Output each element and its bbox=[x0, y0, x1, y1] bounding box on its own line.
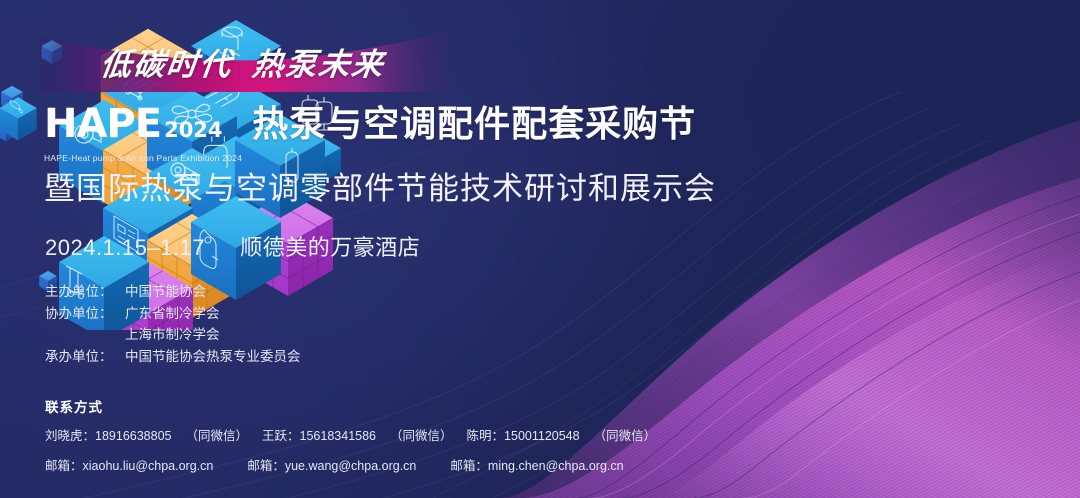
contact-phone-2: 15618341586 bbox=[300, 429, 376, 443]
organizer-name: 中国节能协会 bbox=[125, 281, 206, 303]
organizer-row: 承办单位： 中国节能协会热泵专业委员会 bbox=[45, 346, 301, 368]
contact-wechat-2: （同微信） bbox=[390, 425, 453, 444]
ribbon-slogan: 低碳时代 热泵未来 bbox=[29, 28, 457, 94]
email-label-3: 邮箱： bbox=[450, 455, 488, 474]
organizer-row: 主办单位： 中国节能协会 bbox=[45, 281, 301, 303]
organizer-role: 承办单位： bbox=[45, 346, 125, 368]
organizer-list: 主办单位： 中国节能协会 协办单位： 广东省制冷学会 主办单位： 上海市制冷学会… bbox=[45, 281, 301, 367]
organizer-name: 上海市制冷学会 bbox=[125, 324, 220, 346]
organizer-row: 主办单位： 上海市制冷学会 bbox=[45, 324, 301, 346]
contact-wechat-1: （同微信） bbox=[186, 425, 249, 444]
email-label-2: 邮箱： bbox=[247, 455, 285, 474]
organizer-name: 中国节能协会热泵专业委员会 bbox=[125, 346, 301, 368]
contact-name-3: 陈明： bbox=[467, 425, 505, 444]
event-venue: 顺德美的万豪酒店 bbox=[240, 235, 420, 260]
contact-heading: 联系方式 bbox=[45, 396, 103, 416]
contact-name-1: 刘晓虎： bbox=[45, 425, 95, 444]
date-venue: 2024.1.15–1.17 顺德美的万豪酒店 bbox=[45, 230, 420, 262]
cube-detached-left bbox=[0, 97, 37, 140]
contact-phones-row: 刘晓虎：18916638805（同微信）王跃：15618341586（同微信）陈… bbox=[45, 425, 656, 444]
contact-phone-1: 18916638805 bbox=[95, 429, 171, 443]
contact-wechat-3: （同微信） bbox=[594, 425, 657, 444]
hape-subtitle-en: HAPE-Heat pump & Air con Parts Exhibitio… bbox=[44, 153, 242, 163]
contact-emails-row: 邮箱：xiaohu.liu@chpa.org.cn邮箱：yue.wang@chp… bbox=[45, 455, 624, 474]
organizer-role: 主办单位： bbox=[45, 281, 125, 303]
contact-name-2: 王跃： bbox=[262, 425, 300, 444]
calligraphy-ribbon: 低碳时代 热泵未来 bbox=[33, 28, 453, 94]
organizer-role: 协办单位： bbox=[45, 303, 125, 325]
page-title: 热泵与空调配件配套采购节 bbox=[252, 104, 696, 144]
email-label-1: 邮箱： bbox=[45, 455, 83, 474]
title-block: HAPE 2024 HAPE-Heat pump & Air con Parts… bbox=[44, 104, 696, 163]
contact-email-1[interactable]: xiaohu.liu@chpa.org.cn bbox=[83, 459, 214, 473]
ribbon-slogan-part1: 低碳时代 bbox=[98, 39, 236, 84]
organizer-name: 广东省制冷学会 bbox=[125, 303, 220, 325]
event-date: 2024.1.15–1.17 bbox=[45, 235, 205, 260]
hape-year-text: 2024 bbox=[164, 110, 222, 150]
ribbon-slogan-part2: 热泵未来 bbox=[250, 39, 388, 84]
page-subtitle: 暨国际热泵与空调零部件节能技术研讨和展示会 bbox=[44, 170, 716, 208]
poster-canvas: 低碳时代 热泵未来 HAPE 2024 HAPE-Heat pump & Air… bbox=[0, 0, 1080, 498]
contact-email-3[interactable]: ming.chen@chpa.org.cn bbox=[488, 459, 624, 473]
hape-wordmark: HAPE 2024 bbox=[44, 104, 242, 150]
hape-word-text: HAPE bbox=[44, 104, 161, 144]
contact-email-2[interactable]: yue.wang@chpa.org.cn bbox=[285, 459, 417, 473]
organizer-row: 协办单位： 广东省制冷学会 bbox=[45, 303, 301, 325]
contact-phone-3: 15001120548 bbox=[504, 429, 580, 443]
hape-logo: HAPE 2024 HAPE-Heat pump & Air con Parts… bbox=[44, 104, 242, 163]
